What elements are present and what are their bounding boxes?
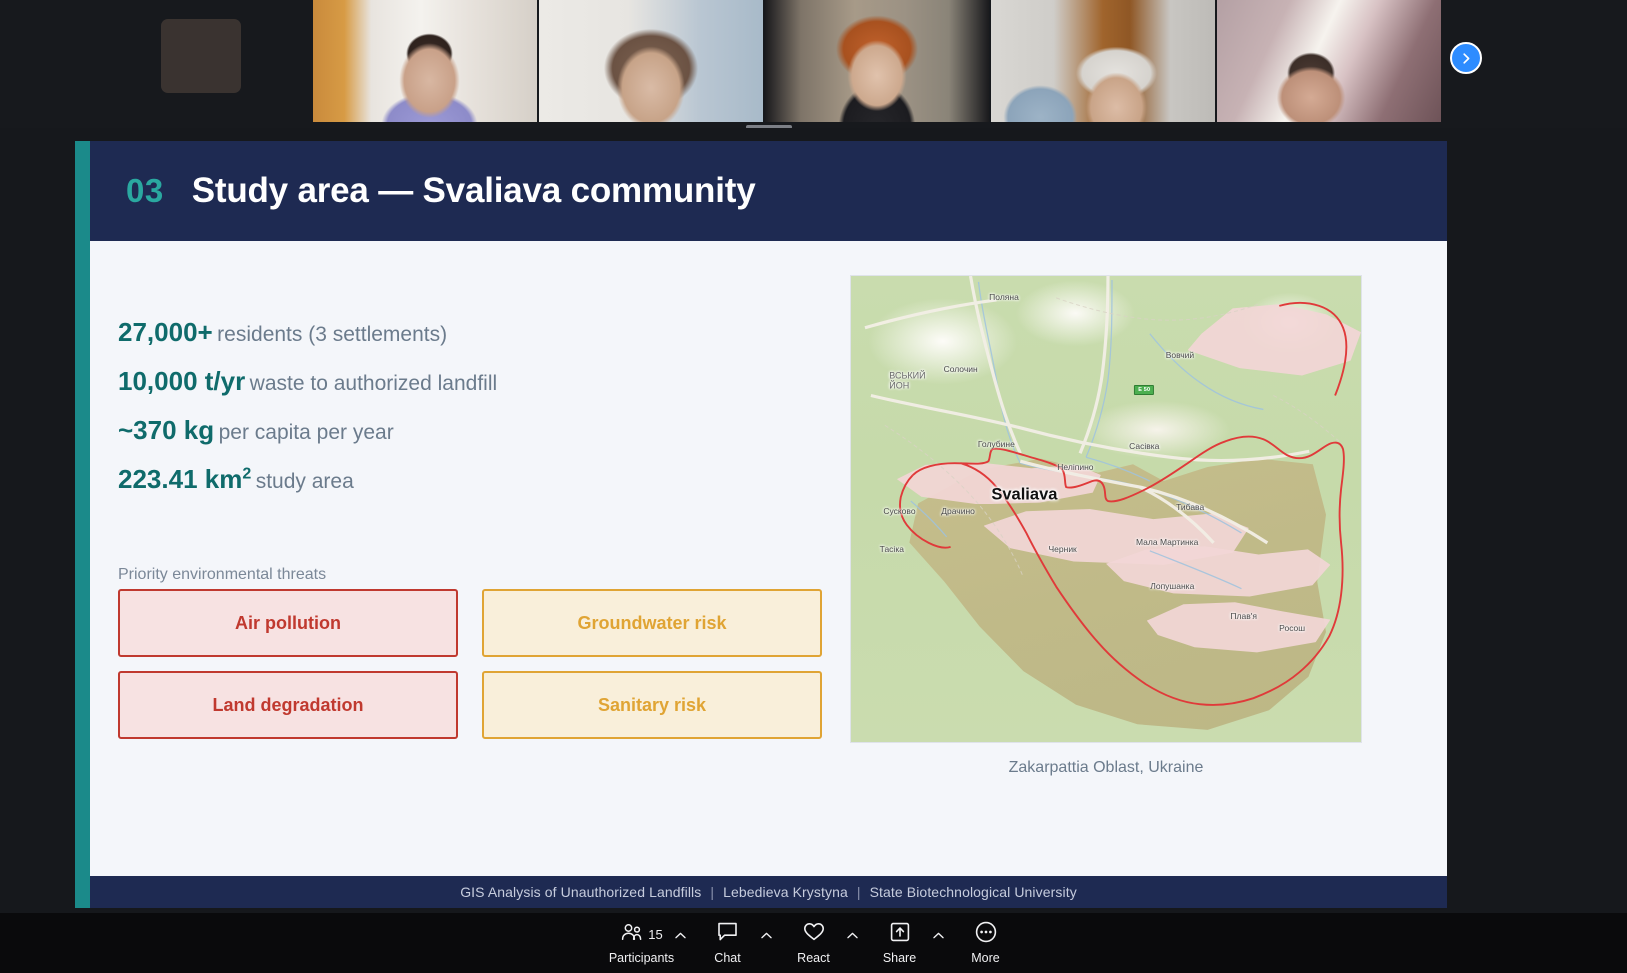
- toolbar-chat-button[interactable]: Chat: [685, 913, 771, 973]
- map-place-label: Плав'я: [1230, 611, 1257, 621]
- map-place-label: Сусково: [883, 506, 915, 516]
- chat-bubble-icon: [716, 921, 739, 948]
- map-place-label: Лопушанка: [1150, 581, 1194, 591]
- stat-label: study area: [256, 470, 354, 493]
- toolbar-label: Participants: [609, 951, 674, 965]
- toolbar-react-button[interactable]: React: [771, 913, 857, 973]
- community-boundary-outline: [900, 303, 1346, 705]
- toolbar-participants-button[interactable]: 15 Participants: [599, 913, 685, 973]
- map-place-label: Голубине: [978, 439, 1015, 449]
- filmstrip-scrollbar[interactable]: [746, 125, 792, 128]
- roads: [865, 276, 1309, 543]
- threat-chip-air-pollution[interactable]: Air pollution: [118, 589, 458, 657]
- chevron-right-icon: [1460, 52, 1473, 65]
- map-place-label: Драчино: [941, 506, 975, 516]
- participants-icon: [620, 923, 644, 946]
- participant-tile-3[interactable]: [765, 0, 989, 122]
- participant-video-2: [539, 0, 763, 122]
- footer-institution: State Biotechnological University: [870, 884, 1077, 900]
- slide-canvas: 03 Study area — Svaliava community 27,00…: [90, 141, 1447, 908]
- participant-video-1: [313, 0, 537, 122]
- participant-video-5: [1217, 0, 1441, 122]
- stat-value: 27,000+: [118, 317, 213, 347]
- self-view-thumbnail[interactable]: [161, 19, 241, 93]
- toolbar-label: More: [971, 951, 999, 965]
- threats-section-label: Priority environmental threats: [118, 566, 326, 584]
- footer-author: Lebedieva Krystyna: [723, 884, 848, 900]
- footer-title: GIS Analysis of Unauthorized Landfills: [460, 884, 701, 900]
- road-number-badge: E 50: [1134, 385, 1154, 395]
- participant-tile-1[interactable]: [313, 0, 537, 122]
- stat-label: per capita per year: [219, 421, 394, 444]
- slide-number: 03: [126, 172, 164, 210]
- stat-row: 27,000+ residents (3 settlements): [118, 319, 798, 345]
- participants-count: 15: [648, 927, 662, 942]
- share-screen-icon: [889, 921, 911, 948]
- toolbar-label: Chat: [714, 951, 740, 965]
- footer-separator: |: [710, 884, 714, 900]
- map-place-label: Росош: [1279, 623, 1305, 633]
- map-place-label: Тасіка: [880, 544, 904, 554]
- threats-grid: Air pollution Groundwater risk Land degr…: [118, 589, 830, 739]
- map-place-label: Мала Мартинка: [1136, 537, 1198, 547]
- slide-accent-bar: [75, 141, 90, 908]
- toolbar-share-button[interactable]: Share: [857, 913, 943, 973]
- toolbar-label: React: [797, 951, 830, 965]
- map-place-label: Тибава: [1176, 502, 1204, 512]
- threat-chip-land-degradation[interactable]: Land degradation: [118, 671, 458, 739]
- stat-value: 223.41 km2: [118, 464, 251, 494]
- participant-tile-2[interactable]: [539, 0, 763, 122]
- minor-paths: [885, 298, 1339, 575]
- zoom-toolbar: 15 Participants Chat: [0, 913, 1627, 973]
- ellipsis-icon: [974, 920, 998, 949]
- map-vector-layer: [851, 276, 1361, 742]
- map-place-label: Сасівка: [1129, 441, 1159, 451]
- toolbar-label: Share: [883, 951, 916, 965]
- map-place-label: Солочин: [944, 364, 978, 374]
- zoom-meeting-window: 03 Study area — Svaliava community 27,00…: [0, 0, 1627, 973]
- next-page-button[interactable]: [1450, 42, 1482, 74]
- map-district-label: ВСЬКИЙЙОН: [889, 371, 925, 392]
- participant-tile-5[interactable]: [1217, 0, 1441, 122]
- participant-tiles: [313, 0, 1441, 122]
- stat-value: 10,000 t/yr: [118, 366, 245, 396]
- participant-video-4: [991, 0, 1215, 122]
- map-place-label: Поляна: [989, 292, 1019, 302]
- map-place-label: Вовчий: [1166, 350, 1194, 360]
- stat-row: ~370 kg per capita per year: [118, 417, 798, 443]
- threat-chip-sanitary-risk[interactable]: Sanitary risk: [482, 671, 822, 739]
- slide-header: 03 Study area — Svaliava community: [90, 141, 1447, 241]
- map-place-label: Черник: [1049, 544, 1077, 554]
- slide-body: 27,000+ residents (3 settlements) 10,000…: [90, 241, 1447, 876]
- slide-footer: GIS Analysis of Unauthorized Landfills |…: [90, 876, 1447, 908]
- map-city-label: Svaliava: [991, 486, 1057, 505]
- map-caption: Zakarpattia Oblast, Ukraine: [850, 759, 1362, 777]
- map-place-label: Неліпино: [1057, 462, 1093, 472]
- stat-label: waste to authorized landfill: [250, 372, 497, 395]
- stats-list: 27,000+ residents (3 settlements) 10,000…: [118, 319, 798, 515]
- threat-chip-groundwater-risk[interactable]: Groundwater risk: [482, 589, 822, 657]
- stat-label: residents (3 settlements): [217, 323, 447, 346]
- heart-icon: [802, 921, 826, 948]
- page-title: Study area — Svaliava community: [192, 171, 756, 211]
- participant-tile-4[interactable]: [991, 0, 1215, 122]
- video-filmstrip: [0, 0, 1627, 128]
- footer-separator: |: [857, 884, 861, 900]
- stat-value: ~370 kg: [118, 415, 214, 445]
- stat-row: 10,000 t/yr waste to authorized landfill: [118, 368, 798, 394]
- shared-slide: 03 Study area — Svaliava community 27,00…: [75, 141, 1447, 908]
- stat-row: 223.41 km2 study area: [118, 466, 798, 492]
- participant-video-3: [765, 0, 989, 122]
- toolbar-more-button[interactable]: More: [943, 913, 1029, 973]
- study-area-map: E 50 ВСЬКИЙЙОН Поляна Солочин Вовчий Гол…: [850, 275, 1362, 743]
